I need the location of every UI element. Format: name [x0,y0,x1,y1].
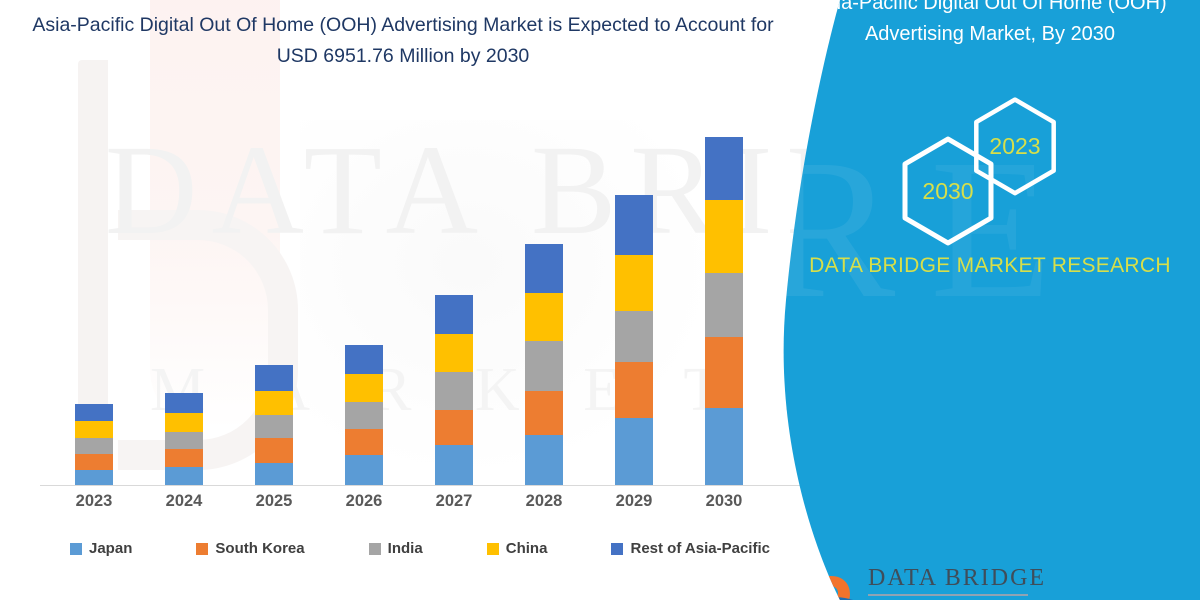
bar-segment-india[interactable] [615,311,653,362]
bar-group [589,103,679,485]
bar-segment-japan[interactable] [705,408,743,485]
bar-segment-japan[interactable] [525,435,563,485]
brand-logo-divider [868,594,1028,596]
brand-panel: R E Asia-Pacific Digital Out Of Home (OO… [780,0,1200,600]
bar-group [319,103,409,485]
bar-segment-japan[interactable] [75,470,113,485]
stacked-bar[interactable] [435,295,473,485]
bar-segment-china[interactable] [75,421,113,438]
bar-segment-japan[interactable] [345,455,383,485]
legend-item-japan[interactable]: Japan [70,540,132,557]
x-axis-tick-label: 2028 [499,492,589,511]
hexagon-badge-2030: 2030 [898,135,998,247]
brand-panel-title: Asia-Pacific Digital Out Of Home (OOH) A… [790,0,1190,50]
bar-segment-japan[interactable] [615,418,653,485]
legend-label: Japan [89,540,132,557]
brand-logo: DATA BRIDGE MARKET RESEARCH [802,538,1062,600]
bar-segment-japan[interactable] [165,467,203,485]
bar-segment-rest[interactable] [255,365,293,391]
bar-segment-japan[interactable] [255,463,293,485]
bar-segment-korea[interactable] [435,410,473,446]
bar-segment-india[interactable] [345,402,383,430]
legend-swatch-icon [70,543,82,555]
legend-swatch-icon [196,543,208,555]
legend-item-india[interactable]: India [369,540,423,557]
bar-segment-korea[interactable] [255,438,293,463]
stacked-bar[interactable] [705,137,743,485]
bar-segment-korea[interactable] [165,449,203,467]
bar-segment-korea[interactable] [525,391,563,436]
bar-segment-rest[interactable] [525,244,563,294]
bar-segment-korea[interactable] [345,429,383,455]
bar-segment-japan[interactable] [435,445,473,485]
x-axis-tick-label: 2029 [589,492,679,511]
bar-segment-china[interactable] [345,374,383,402]
bar-group [49,103,139,485]
legend-label: South Korea [215,540,304,557]
legend-swatch-icon [611,543,623,555]
x-axis-tick-label: 2027 [409,492,499,511]
hexagon-badge-2023-label: 2023 [989,133,1040,160]
bar-segment-china[interactable] [255,391,293,416]
bar-segment-india[interactable] [435,372,473,410]
chart-panel: Asia-Pacific Digital Out Of Home (OOH) A… [0,0,830,600]
bar-segment-india[interactable] [255,415,293,438]
bar-segment-rest[interactable] [345,345,383,374]
bar-segment-rest[interactable] [705,137,743,200]
bar-group [409,103,499,485]
legend-item-rest-of-asia-pacific[interactable]: Rest of Asia-Pacific [611,540,770,557]
x-axis-tick-label: 2025 [229,492,319,511]
stacked-bar[interactable] [525,244,563,485]
bar-segment-korea[interactable] [705,337,743,407]
bar-segment-rest[interactable] [435,295,473,334]
legend-swatch-icon [369,543,381,555]
bar-segment-china[interactable] [165,413,203,432]
bar-segment-korea[interactable] [615,362,653,419]
bar-group [679,103,769,485]
bar-segment-korea[interactable] [75,454,113,470]
legend-item-china[interactable]: China [487,540,548,557]
bar-group [139,103,229,485]
stacked-bar[interactable] [255,365,293,485]
hexagon-badge-2030-label: 2030 [922,178,973,205]
bar-group [499,103,589,485]
bar-segment-china[interactable] [435,334,473,372]
bar-segment-china[interactable] [525,293,563,341]
x-axis-tick-label: 2023 [49,492,139,511]
brand-company-name: DATA BRIDGE MARKET RESEARCH [800,250,1180,282]
legend-swatch-icon [487,543,499,555]
bar-segment-rest[interactable] [75,404,113,421]
x-axis-tick-label: 2024 [139,492,229,511]
bar-segment-india[interactable] [705,273,743,338]
stacked-bar[interactable] [345,345,383,485]
legend-label: China [506,540,548,557]
brand-logo-text: DATA BRIDGE [868,565,1046,592]
bar-segment-india[interactable] [525,341,563,391]
legend-label: India [388,540,423,557]
stacked-bar[interactable] [615,195,653,485]
bar-segment-india[interactable] [165,432,203,449]
legend-label: Rest of Asia-Pacific [630,540,770,557]
bar-segment-china[interactable] [615,255,653,312]
bar-segment-rest[interactable] [615,195,653,255]
x-axis-tick-label: 2030 [679,492,769,511]
legend-item-south-korea[interactable]: South Korea [196,540,304,557]
bar-segment-india[interactable] [75,438,113,454]
stacked-bar[interactable] [165,393,203,485]
x-axis-tick-label: 2026 [319,492,409,511]
chart-legend: JapanSouth KoreaIndiaChinaRest of Asia-P… [60,540,780,557]
stacked-bar[interactable] [75,404,113,485]
bar-segment-rest[interactable] [165,393,203,414]
page-title: Asia-Pacific Digital Out Of Home (OOH) A… [18,10,788,72]
bar-segment-china[interactable] [705,200,743,272]
bar-group [229,103,319,485]
